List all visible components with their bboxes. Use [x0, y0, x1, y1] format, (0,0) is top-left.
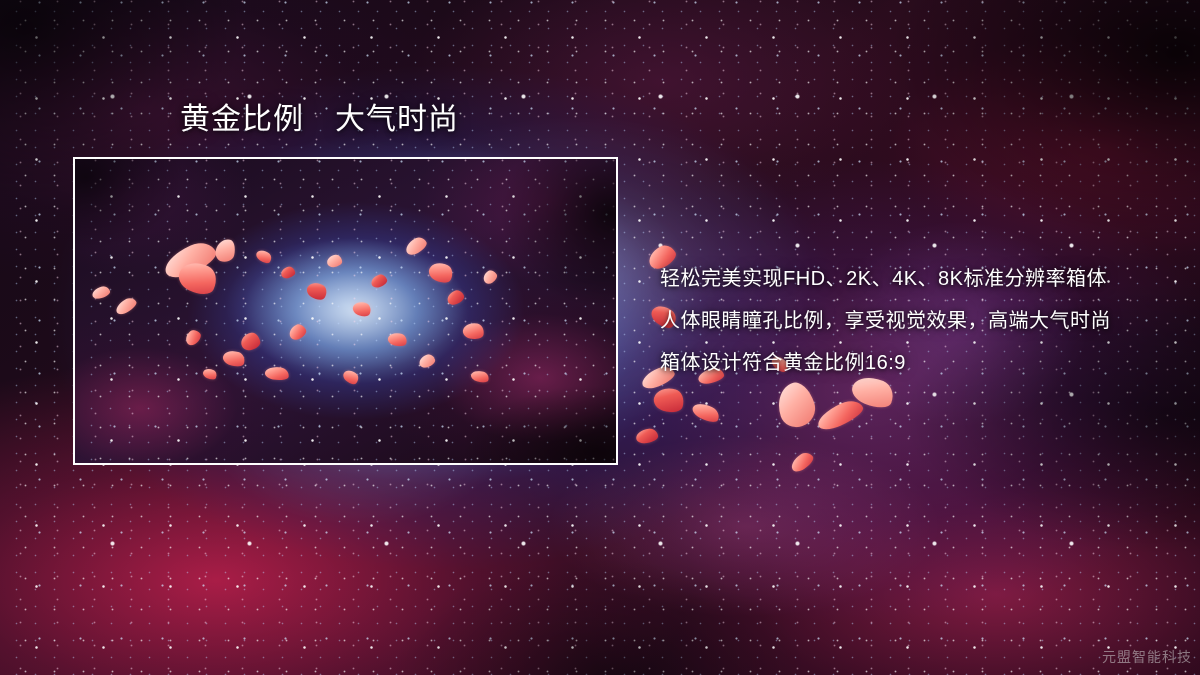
petal-decoration [651, 384, 686, 415]
body-copy-line-3: 箱体设计符合黄金比例16:9 [660, 342, 1180, 384]
petal-decoration [772, 379, 820, 432]
petal-decoration [635, 428, 659, 445]
page-title: 黄金比例 大气时尚 [180, 103, 459, 137]
petal-decoration [788, 449, 816, 474]
body-copy-block: 轻松完美实现FHD、2K、4K、8K标准分辨率箱体 人体眼睛瞳孔比例，享受视觉效… [660, 258, 1180, 384]
preview-vignette [75, 159, 616, 463]
body-copy-line-1: 轻松完美实现FHD、2K、4K、8K标准分辨率箱体 [660, 258, 1180, 300]
presentation-slide: 黄金比例 大气时尚 轻松完美实现FHD、2K、4K、8K标准分辨率箱体 人体眼睛… [0, 0, 1200, 675]
body-copy-line-2: 人体眼睛瞳孔比例，享受视觉效果，高端大气时尚 [660, 300, 1180, 342]
petal-decoration [814, 396, 866, 434]
watermark: 元盟智能科技 [1102, 647, 1192, 667]
petal-decoration [690, 400, 722, 426]
preview-image-frame[interactable] [73, 157, 618, 465]
